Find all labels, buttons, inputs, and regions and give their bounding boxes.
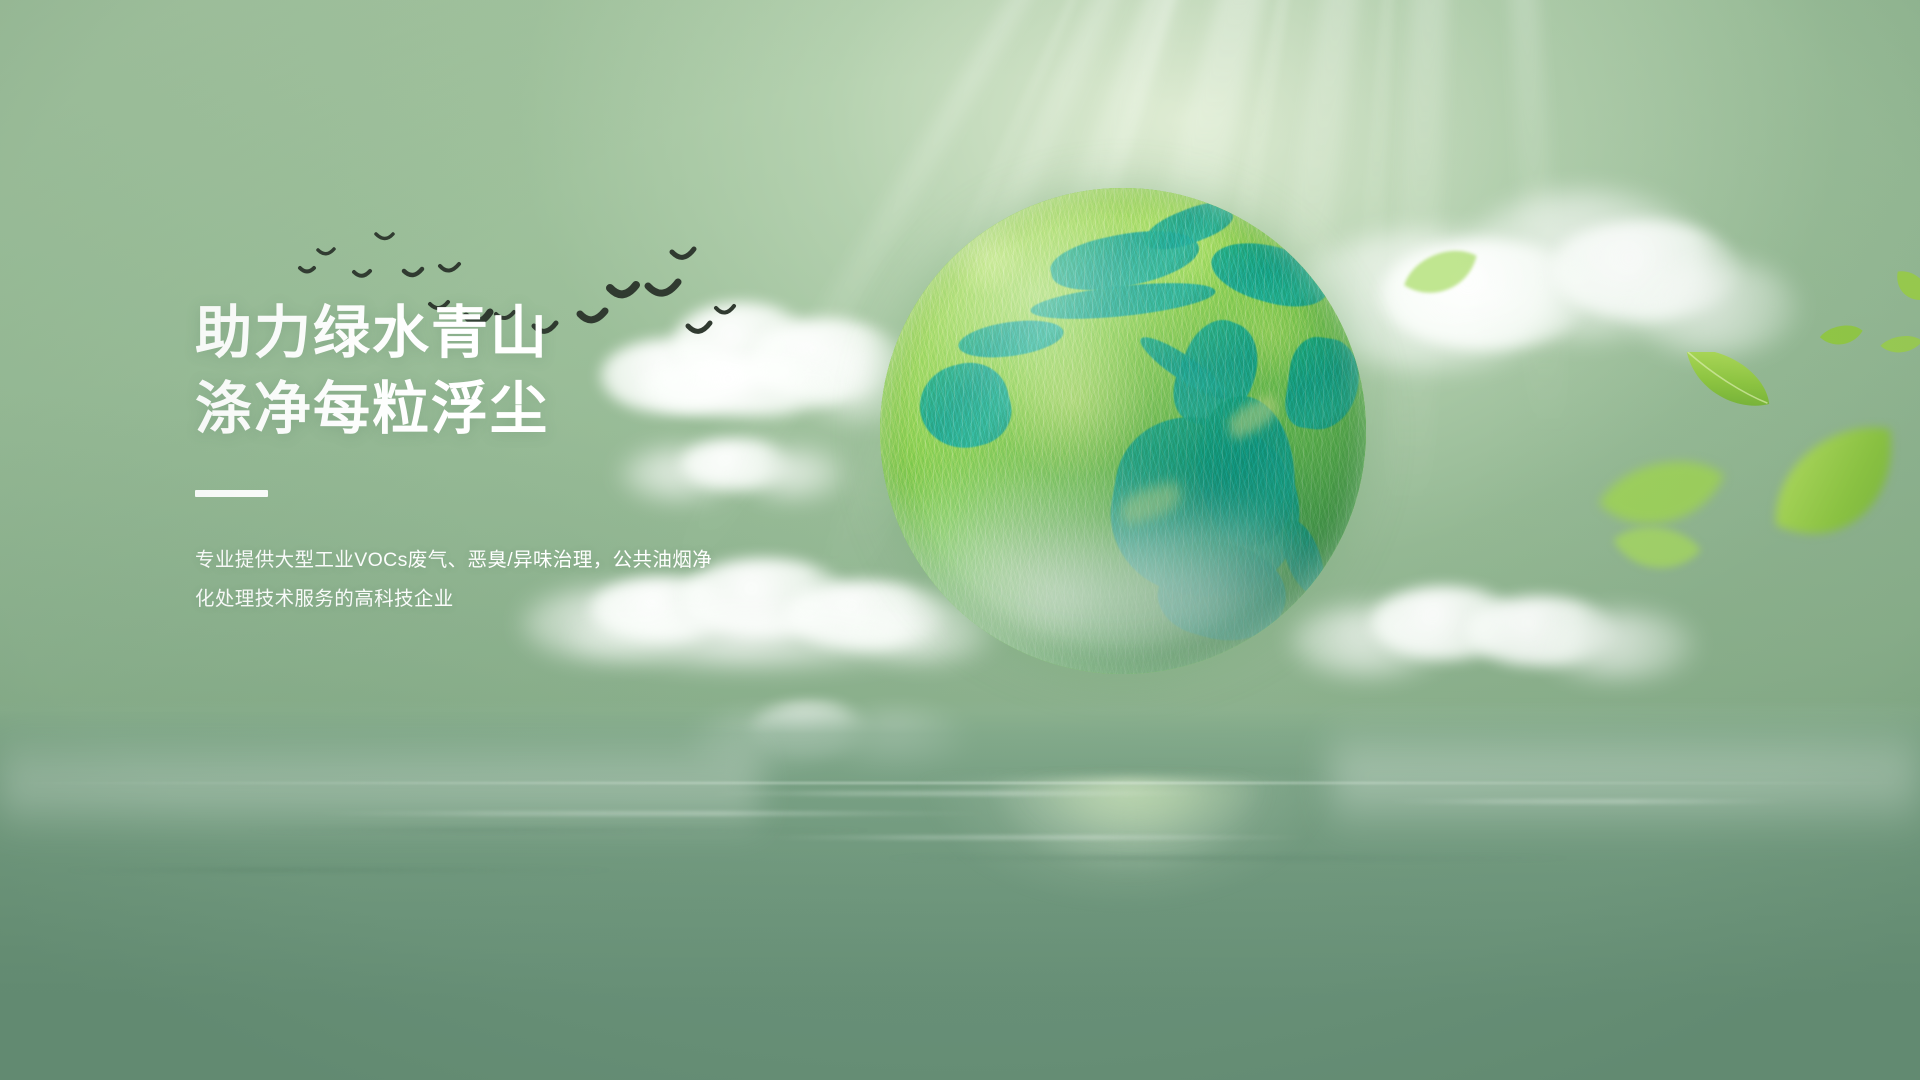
hero-copy: 助力绿水青山 涤净每粒浮尘 专业提供大型工业VOCs废气、恶臭/异味治理，公共油… xyxy=(195,296,895,619)
water-mist-left xyxy=(0,730,760,840)
leaf-4 xyxy=(1884,268,1920,314)
water-mist-right xyxy=(1330,720,1920,840)
hero-banner: 助力绿水青山 涤净每粒浮尘 专业提供大型工业VOCs废气、恶臭/异味治理，公共油… xyxy=(0,0,1920,1080)
subtitle-line-1: 专业提供大型工业VOCs废气、恶臭/异味治理，公共油烟净 xyxy=(195,541,735,580)
ripple-1 xyxy=(700,792,1220,795)
leaf-3 xyxy=(1878,332,1920,362)
leaf-8 xyxy=(1400,246,1486,308)
headline-line-2: 涤净每粒浮尘 xyxy=(195,372,895,448)
ripple-dark-3 xyxy=(60,868,620,872)
globe-reflection-grass-tint xyxy=(1010,784,1260,894)
leaf-1 xyxy=(1668,352,1778,422)
leaf-5-blurred xyxy=(1770,418,1920,598)
ripple-3 xyxy=(760,836,1320,839)
headline-line-1: 助力绿水青山 xyxy=(195,296,895,372)
ripple-dark-2 xyxy=(880,856,1580,860)
leaf-7-blurred xyxy=(1608,518,1704,588)
headline-divider xyxy=(195,490,268,497)
hero-subtitle: 专业提供大型工业VOCs废气、恶臭/异味治理，公共油烟净 化处理技术服务的高科技… xyxy=(195,541,735,619)
leaf-2 xyxy=(1818,322,1866,356)
subtitle-line-2: 化处理技术服务的高科技企业 xyxy=(195,580,735,619)
